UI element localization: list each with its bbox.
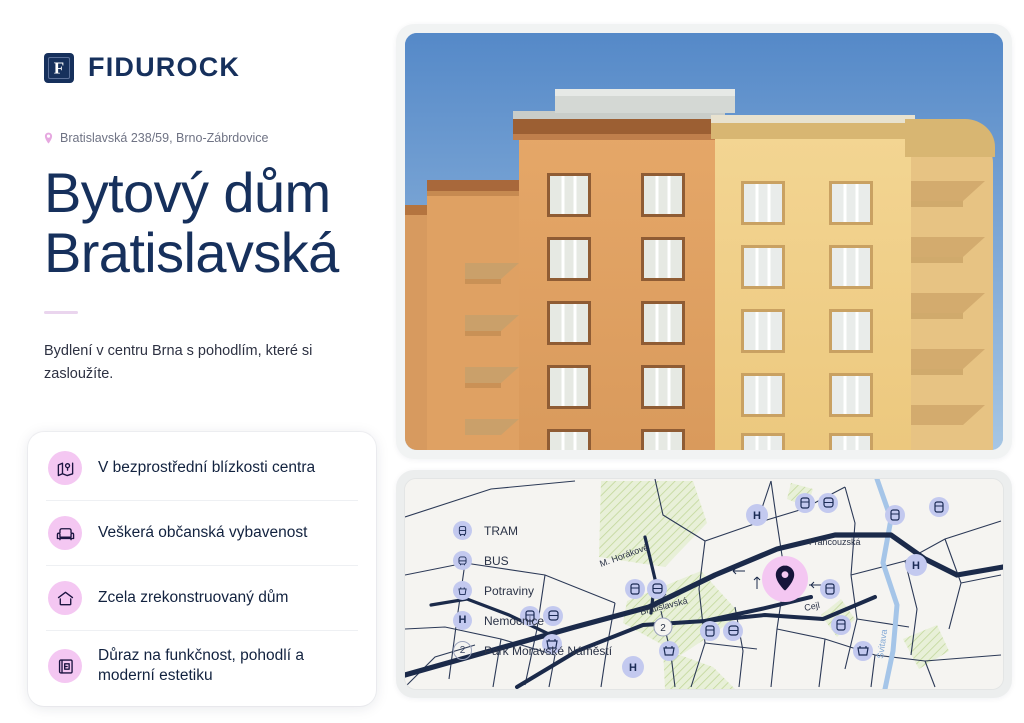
property-photo bbox=[405, 33, 1003, 450]
svg-text:H: H bbox=[753, 510, 761, 522]
list-item[interactable]: V bezprostřední blízkosti centra bbox=[46, 436, 358, 501]
lede-text: Bydlení v centru Brna s pohodlím, které … bbox=[44, 340, 329, 387]
address-text: Bratislavská 238/59, Brno-Zábrdovice bbox=[60, 131, 268, 145]
hospital-icon: H bbox=[453, 611, 472, 630]
brand-logo: F FIDUROCK bbox=[44, 52, 360, 83]
page-title-line-2: Bratislavská bbox=[44, 223, 360, 283]
property-photo-card bbox=[396, 24, 1012, 459]
location-pin-icon bbox=[44, 132, 53, 144]
list-item-label: V bezprostřední blízkosti centra bbox=[98, 458, 315, 478]
list-item-label: Zcela zrekonstruovaný dům bbox=[98, 588, 288, 608]
map-legend: TRAM BUS bbox=[453, 521, 612, 660]
legend-item-nemocnice: H Nemocnice bbox=[453, 611, 612, 630]
tram-icon bbox=[453, 521, 472, 540]
street-label-francouzska: Francouzská bbox=[809, 537, 861, 547]
list-item-label: Důraz na funkčnost, pohodlí a moderní es… bbox=[98, 646, 356, 687]
fidurock-logo-icon: F bbox=[44, 53, 74, 83]
page-title: Bytový dům Bratislavská bbox=[44, 163, 360, 283]
legend-label: Potraviny bbox=[484, 584, 534, 598]
address: Bratislavská 238/59, Brno-Zábrdovice bbox=[44, 131, 360, 145]
list-item[interactable]: Veškerá občanská vybavenost bbox=[46, 501, 358, 566]
accent-rule bbox=[44, 311, 78, 314]
legend-item-bus: BUS bbox=[453, 551, 612, 570]
legend-item-tram: TRAM bbox=[453, 521, 612, 540]
map-pin-icon bbox=[48, 451, 82, 485]
location-map[interactable]: M. Horákové Francouzská Bratislavská Cej… bbox=[404, 478, 1004, 690]
blueprint-icon bbox=[48, 649, 82, 683]
logo-mark-letter: F bbox=[44, 59, 74, 76]
legend-label: BUS bbox=[484, 554, 509, 568]
svg-text:H: H bbox=[629, 662, 637, 674]
building-facade-illustration bbox=[405, 33, 1003, 450]
right-column: M. Horákové Francouzská Bratislavská Cej… bbox=[392, 0, 1024, 723]
park-number-marker: 2 bbox=[654, 618, 672, 636]
legend-label: TRAM bbox=[484, 524, 518, 538]
armchair-icon bbox=[48, 516, 82, 550]
svg-text:H: H bbox=[912, 560, 920, 572]
page-title-line-1: Bytový dům bbox=[44, 161, 331, 224]
grocery-basket-icon bbox=[453, 581, 472, 600]
poster-root: F FIDUROCK Bratislavská 238/59, Brno-Záb… bbox=[0, 0, 1024, 723]
bus-icon bbox=[453, 551, 472, 570]
legend-item-park: 2 Park Moravské Náměstí bbox=[453, 641, 612, 660]
list-item[interactable]: Důraz na funkčnost, pohodlí a moderní es… bbox=[46, 631, 358, 702]
svg-text:2: 2 bbox=[660, 623, 666, 634]
legend-item-potraviny: Potraviny bbox=[453, 581, 612, 600]
list-item-label: Veškerá občanská vybavenost bbox=[98, 523, 307, 543]
property-pin-icon bbox=[762, 556, 808, 602]
list-item[interactable]: Zcela zrekonstruovaný dům bbox=[46, 566, 358, 631]
home-icon bbox=[48, 581, 82, 615]
hospital-glyph: H bbox=[459, 615, 467, 626]
legend-label: Nemocnice bbox=[484, 614, 544, 628]
park-number-icon: 2 bbox=[453, 641, 472, 660]
park-glyph: 2 bbox=[460, 646, 466, 656]
legend-label: Park Moravské Náměstí bbox=[484, 644, 612, 658]
feature-list-card: V bezprostřední blízkosti centra Veškerá… bbox=[28, 432, 376, 706]
location-map-card: M. Horákové Francouzská Bratislavská Cej… bbox=[396, 470, 1012, 698]
brand-name: FIDUROCK bbox=[88, 52, 240, 83]
